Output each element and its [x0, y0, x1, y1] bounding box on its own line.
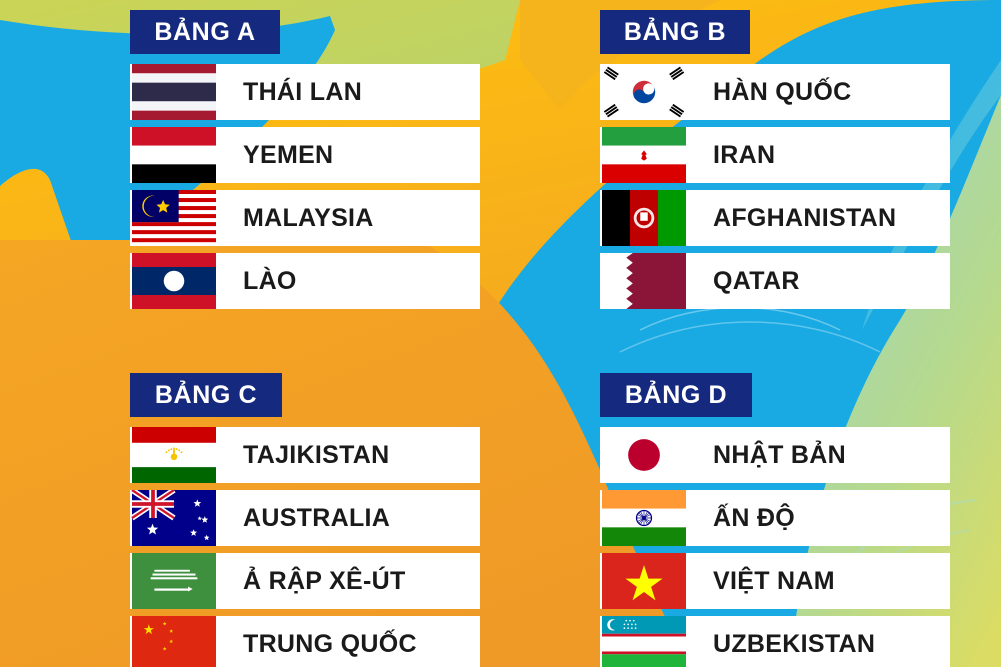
team-name: QATAR [688, 253, 950, 309]
team-name: VIỆT NAM [688, 553, 950, 609]
team-list-a: THÁI LAN YEMEN [130, 64, 480, 309]
team-name: TAJIKISTAN [218, 427, 480, 483]
table-row[interactable]: TRUNG QUỐC [130, 616, 480, 667]
flag-tajikistan [130, 427, 218, 483]
table-row[interactable]: YEMEN [130, 127, 480, 183]
team-name: Ả RẬP XÊ-ÚT [218, 553, 480, 609]
group-panel-d: BẢNG D NHẬT BẢN [600, 373, 950, 667]
table-row[interactable]: NHẬT BẢN [600, 427, 950, 483]
team-name: ẤN ĐỘ [688, 490, 950, 546]
team-name: LÀO [218, 253, 480, 309]
team-name: AUSTRALIA [218, 490, 480, 546]
flag-uzbekistan [600, 616, 688, 667]
team-name: YEMEN [218, 127, 480, 183]
flag-saudi-arabia [130, 553, 218, 609]
group-title-a: BẢNG A [130, 10, 280, 54]
table-row[interactable]: THÁI LAN [130, 64, 480, 120]
flag-afghanistan [600, 190, 688, 246]
flag-australia [130, 490, 218, 546]
team-name: UZBEKISTAN [688, 616, 950, 667]
flag-malaysia [130, 190, 218, 246]
flag-thailand [130, 64, 218, 120]
table-row[interactable]: AUSTRALIA [130, 490, 480, 546]
table-row[interactable]: ẤN ĐỘ [600, 490, 950, 546]
flag-japan [600, 427, 688, 483]
flag-south-korea [600, 64, 688, 120]
team-name: NHẬT BẢN [688, 427, 950, 483]
table-row[interactable]: UZBEKISTAN [600, 616, 950, 667]
flag-yemen [130, 127, 218, 183]
table-row[interactable]: MALAYSIA [130, 190, 480, 246]
group-title-c: BẢNG C [130, 373, 282, 417]
table-row[interactable]: VIỆT NAM [600, 553, 950, 609]
flag-india [600, 490, 688, 546]
flag-vietnam [600, 553, 688, 609]
flag-laos [130, 253, 218, 309]
team-list-d: NHẬT BẢN ẤN ĐỘ [600, 427, 950, 667]
table-row[interactable]: TAJIKISTAN [130, 427, 480, 483]
team-name: HÀN QUỐC [688, 64, 950, 120]
table-row[interactable]: Ả RẬP XÊ-ÚT [130, 553, 480, 609]
team-list-b: HÀN QUỐC IRAN AF [600, 64, 950, 309]
table-row[interactable]: HÀN QUỐC [600, 64, 950, 120]
team-name: MALAYSIA [218, 190, 480, 246]
team-name: TRUNG QUỐC [218, 616, 480, 667]
group-panel-a: BẢNG A THÁI LAN YEMEN [130, 10, 480, 316]
table-row[interactable]: AFGHANISTAN [600, 190, 950, 246]
team-list-c: TAJIKISTAN [130, 427, 480, 667]
group-panel-b: BẢNG B [600, 10, 950, 316]
group-panel-c: BẢNG C TAJIKISTAN [130, 373, 480, 667]
group-title-d: BẢNG D [600, 373, 752, 417]
table-row[interactable]: LÀO [130, 253, 480, 309]
group-title-b: BẢNG B [600, 10, 750, 54]
team-name: THÁI LAN [218, 64, 480, 120]
team-name: IRAN [688, 127, 950, 183]
flag-iran [600, 127, 688, 183]
flag-china [130, 616, 218, 667]
table-row[interactable]: QATAR [600, 253, 950, 309]
flag-qatar [600, 253, 688, 309]
team-name: AFGHANISTAN [688, 190, 950, 246]
table-row[interactable]: IRAN [600, 127, 950, 183]
